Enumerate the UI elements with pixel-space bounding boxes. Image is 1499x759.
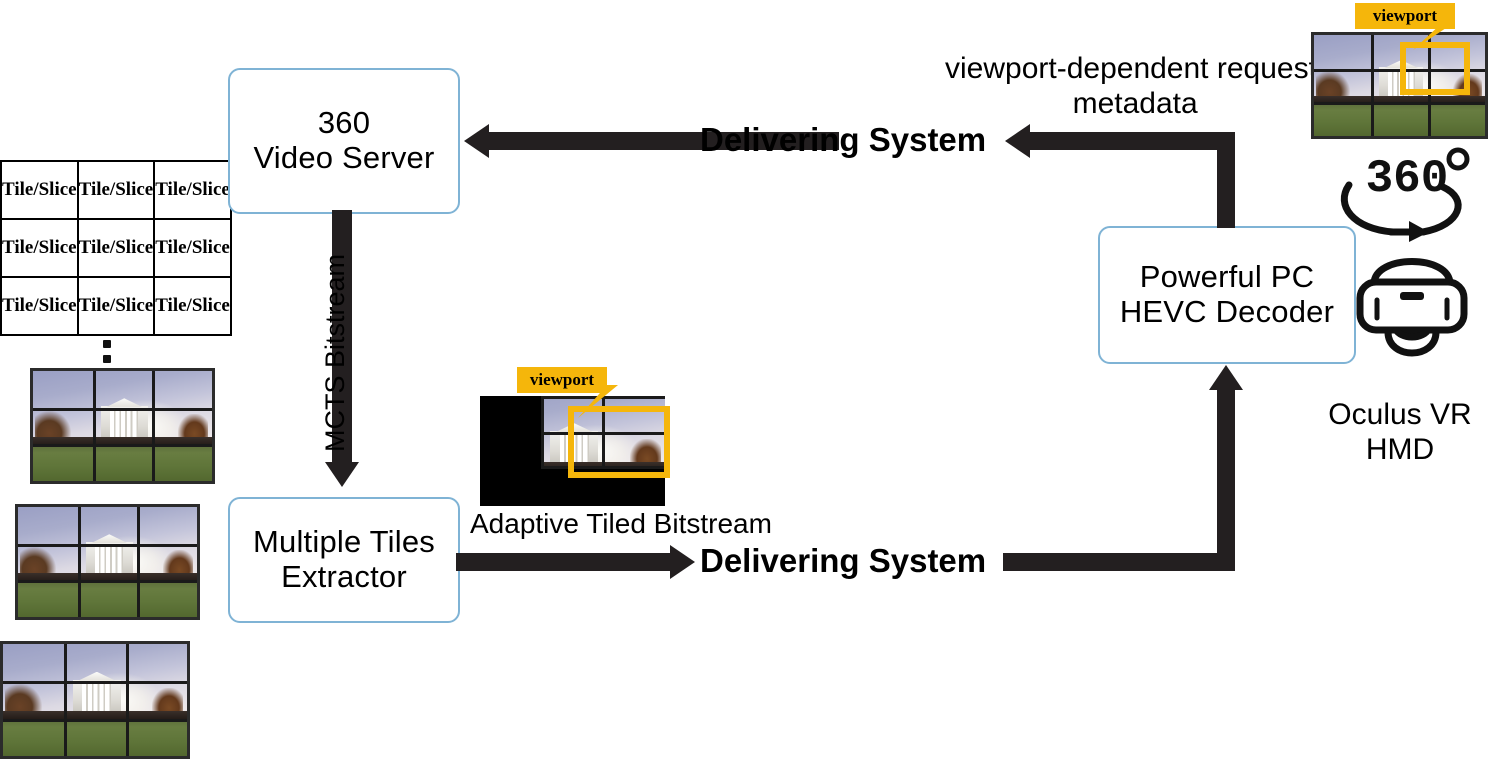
tiles-extractor-line1: Multiple Tiles [253, 525, 435, 560]
label-adaptive-tiled-bitstream: Adaptive Tiled Bitstream [470, 508, 772, 540]
360-rotation-icon: 360 [1331, 143, 1483, 243]
source-frame-middle [15, 504, 200, 620]
arrow-top-left-shaft2 [489, 132, 639, 150]
arrow-bottom-left-shaft [456, 553, 678, 571]
table-row: Tile/Slice Tile/Slice Tile/Slice [1, 277, 231, 335]
source-frame-front [0, 641, 190, 759]
table-row: Tile/Slice Tile/Slice Tile/Slice [1, 161, 231, 219]
source-360-video-stack [0, 368, 230, 528]
viewport-callout-pointer-top [1395, 22, 1465, 57]
label-delivering-system-bottom: Delivering System [700, 542, 986, 580]
viewport-callout-pointer-bottom [560, 385, 640, 425]
video-server-line2: Video Server [253, 141, 434, 176]
tile-cell: Tile/Slice [1, 219, 78, 277]
arrow-bottom-right-shaft [1003, 553, 1235, 571]
tile-cell: Tile/Slice [78, 161, 155, 219]
arrow-server-to-extractor-head [325, 462, 359, 487]
decoder-line2: HEVC Decoder [1120, 295, 1334, 330]
hmd-line1: Oculus VR [1310, 398, 1490, 433]
tile-cell: Tile/Slice [154, 277, 231, 335]
tile-cell: Tile/Slice [154, 219, 231, 277]
tile-slice-table: Tile/Slice Tile/Slice Tile/Slice Tile/Sl… [0, 160, 232, 336]
tile-slice-grid: Tile/Slice Tile/Slice Tile/Slice Tile/Sl… [0, 160, 232, 336]
label-request-line2: metadata [945, 87, 1325, 122]
vr-headset-icon [1348, 240, 1476, 368]
arrow-top-right-shaft [1030, 132, 1235, 150]
tiles-extractor-line2: Extractor [253, 560, 435, 595]
label-oculus-hmd: Oculus VR HMD [1310, 398, 1490, 467]
label-request-line1: viewport-dependent request, [945, 52, 1325, 87]
video-server-line1: 360 [253, 106, 434, 141]
arrow-bottom-left-head [670, 545, 695, 579]
node-multiple-tiles-extractor[interactable]: Multiple Tiles Extractor [228, 497, 460, 623]
hmd-line2: HMD [1310, 433, 1490, 468]
tile-cell: Tile/Slice [78, 277, 155, 335]
label-mcts-bitstream: MCTS Bitstream [320, 254, 351, 452]
source-frame-back [30, 368, 215, 484]
tile-cell: Tile/Slice [1, 161, 78, 219]
arrow-top-right-head [1005, 124, 1030, 158]
node-powerful-pc-hevc-decoder[interactable]: Powerful PC HEVC Decoder [1098, 226, 1356, 364]
arrow-top-left-head [464, 124, 489, 158]
label-delivering-system-top: Delivering System [700, 121, 986, 159]
label-request-block: viewport-dependent request, metadata [945, 52, 1325, 121]
arrow-top-right-elbow [1217, 132, 1235, 228]
node-360-video-server[interactable]: 360 Video Server [228, 68, 460, 214]
tile-cell: Tile/Slice [154, 161, 231, 219]
table-row: Tile/Slice Tile/Slice Tile/Slice [1, 219, 231, 277]
arrow-bottom-right-head [1209, 365, 1243, 390]
arrow-bottom-right-elbow [1217, 390, 1235, 571]
svg-text:360: 360 [1366, 153, 1449, 205]
tile-cell: Tile/Slice [78, 219, 155, 277]
tile-cell: Tile/Slice [1, 277, 78, 335]
decoder-line1: Powerful PC [1120, 260, 1334, 295]
